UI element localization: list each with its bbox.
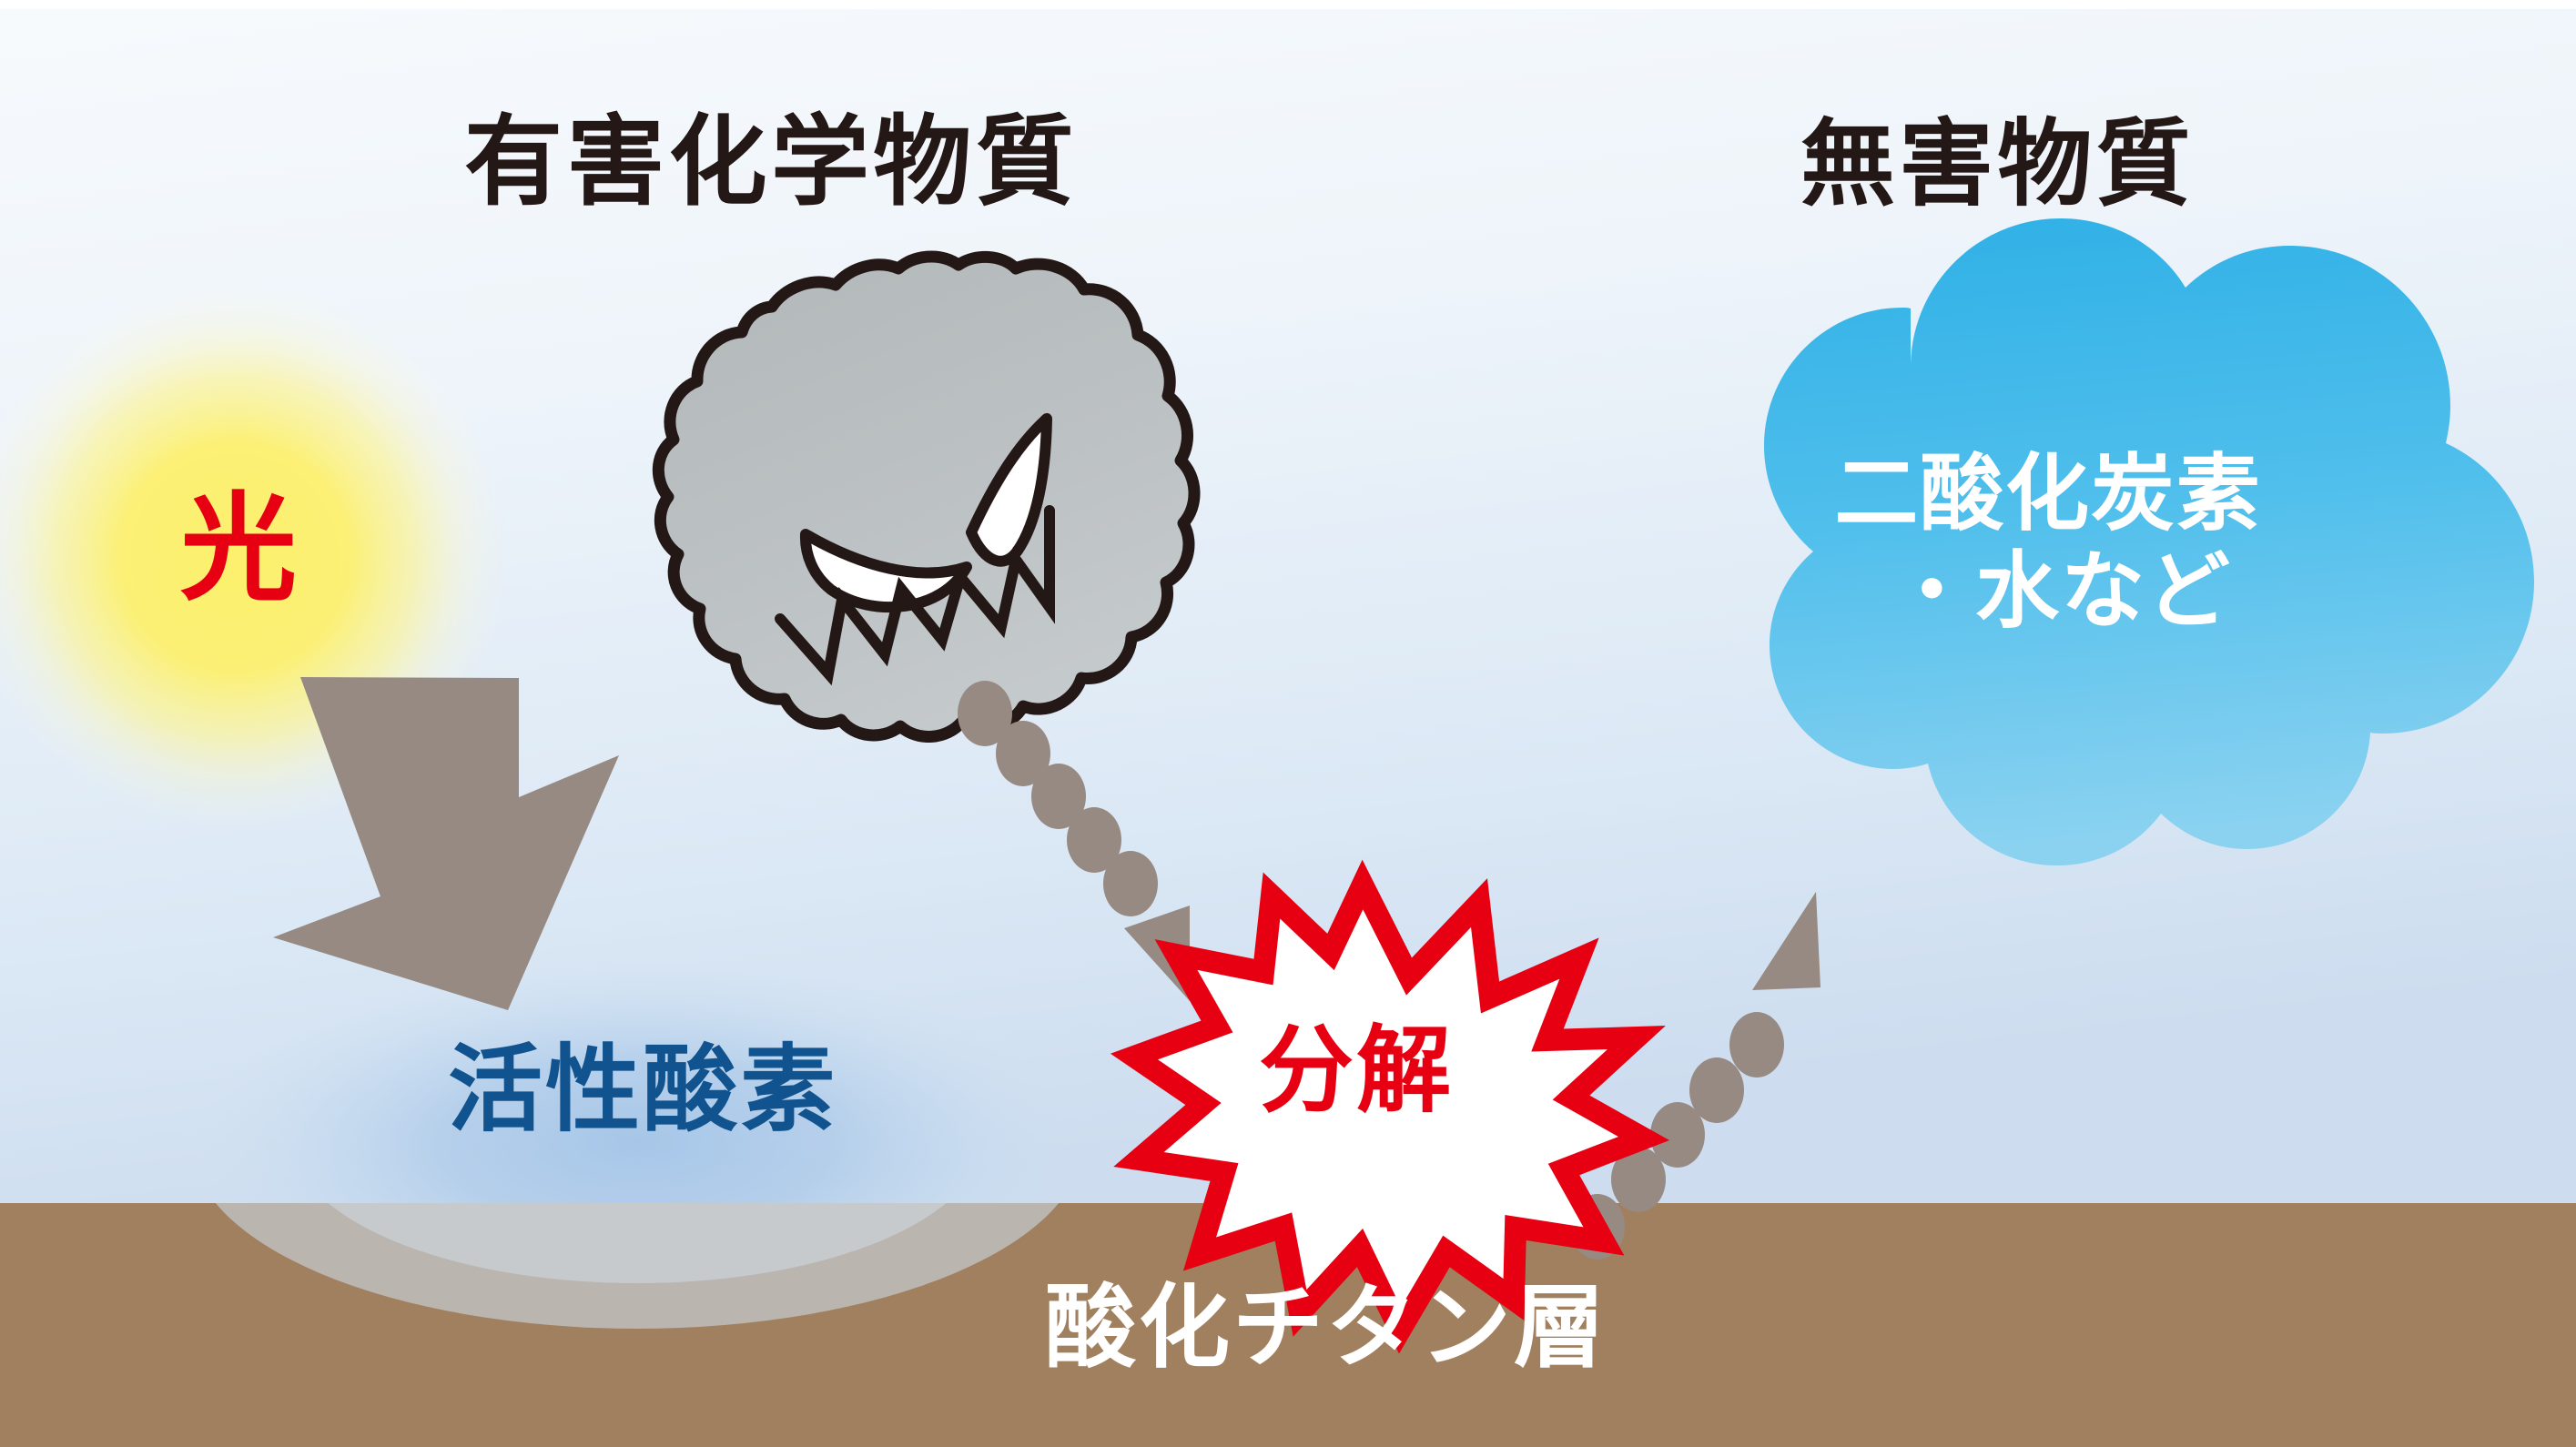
label-products-line1: 二酸化炭素 [1757,446,2339,543]
label-decompose: 分解 [1259,1023,1454,1118]
label-products-line2: ・水など [1757,543,2339,641]
label-active-oxygen: 活性酸素 [448,1042,837,1137]
page-title-harmless-substances: 無害物質 [1800,116,2195,211]
angry-cloud-monster-icon [658,257,1194,737]
label-titanium-oxide-layer: 酸化チタン層 [1045,1282,1607,1373]
label-light: 光 [180,491,299,608]
page-title-harmful-substances: 有害化学物質 [464,114,1078,212]
diagram-canvas: 有害化学物質 無害物質 光 活性酸素 分解 二酸化炭素 ・水など 酸化チタン層 [0,0,2576,1447]
label-products: 二酸化炭素 ・水など [1757,446,2339,640]
